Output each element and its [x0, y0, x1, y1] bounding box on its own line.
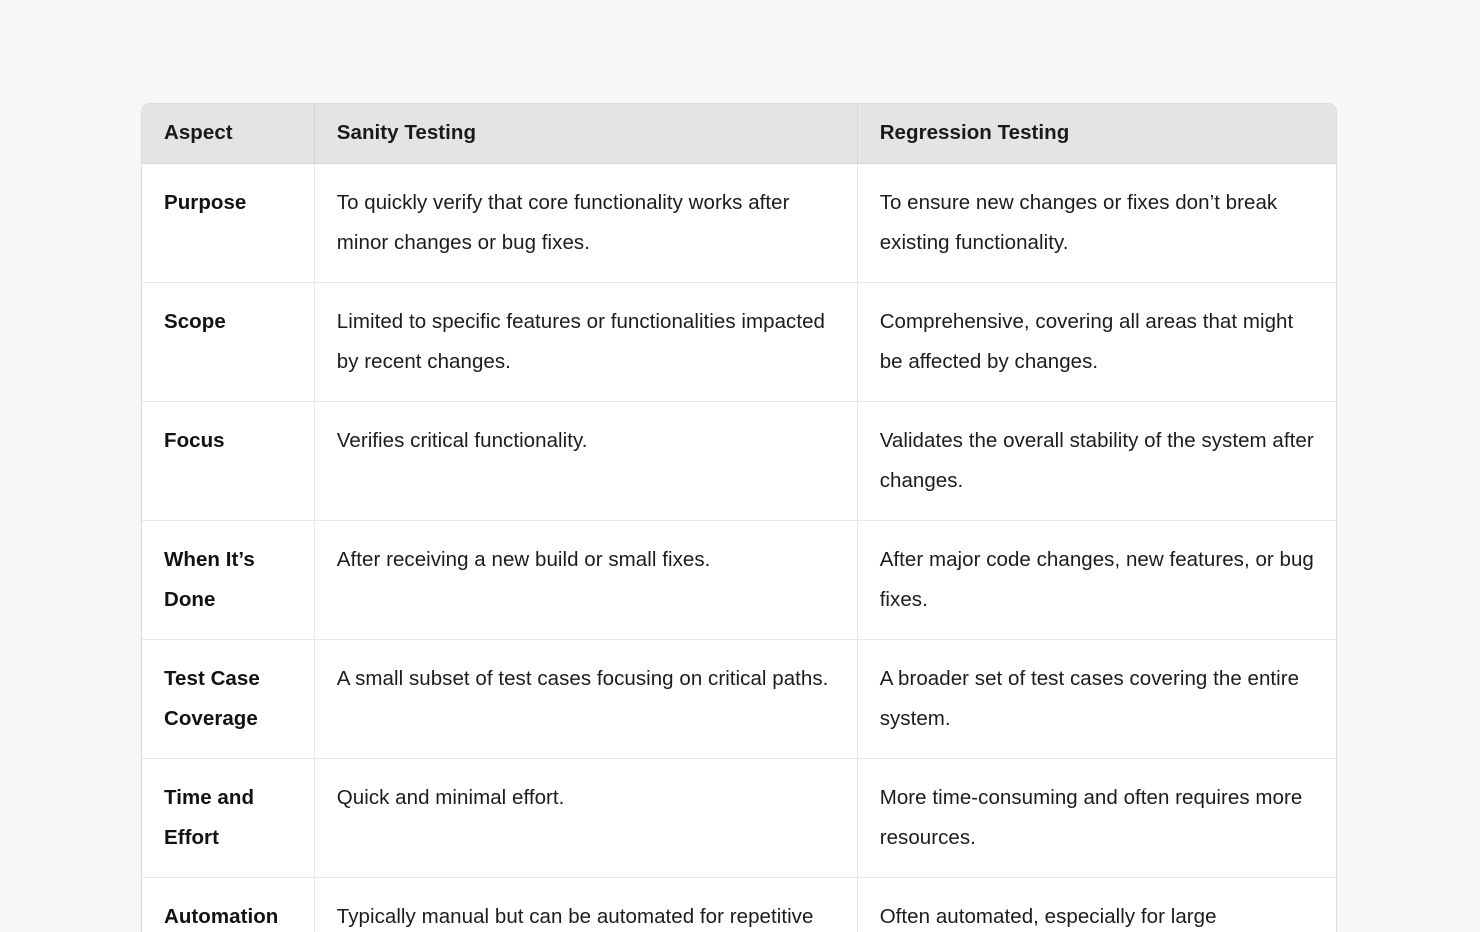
- column-header-regression-testing: Regression Testing: [857, 104, 1336, 164]
- table-body: Purpose To quickly verify that core func…: [142, 164, 1336, 932]
- column-header-aspect: Aspect: [142, 104, 314, 164]
- cell-regression: More time-consuming and often requires m…: [857, 758, 1336, 877]
- cell-sanity: After receiving a new build or small fix…: [314, 520, 857, 639]
- comparison-table: Aspect Sanity Testing Regression Testing…: [142, 104, 1336, 932]
- cell-aspect: When It’s Done: [142, 520, 314, 639]
- cell-aspect: Scope: [142, 282, 314, 401]
- table-row: Automation Typically manual but can be a…: [142, 877, 1336, 932]
- table-header: Aspect Sanity Testing Regression Testing: [142, 104, 1336, 164]
- table-row: Test Case Coverage A small subset of tes…: [142, 639, 1336, 758]
- page-root: Aspect Sanity Testing Regression Testing…: [0, 0, 1480, 932]
- cell-aspect: Test Case Coverage: [142, 639, 314, 758]
- cell-regression: A broader set of test cases covering the…: [857, 639, 1336, 758]
- cell-aspect: Focus: [142, 401, 314, 520]
- column-header-sanity-testing: Sanity Testing: [314, 104, 857, 164]
- cell-aspect: Automation: [142, 877, 314, 932]
- cell-sanity: Limited to specific features or function…: [314, 282, 857, 401]
- cell-sanity: A small subset of test cases focusing on…: [314, 639, 857, 758]
- table-row: Time and Effort Quick and minimal effort…: [142, 758, 1336, 877]
- comparison-table-container: Aspect Sanity Testing Regression Testing…: [141, 103, 1337, 932]
- cell-aspect: Purpose: [142, 164, 314, 283]
- cell-regression: Validates the overall stability of the s…: [857, 401, 1336, 520]
- cell-sanity: Typically manual but can be automated fo…: [314, 877, 857, 932]
- cell-sanity: To quickly verify that core functionalit…: [314, 164, 857, 283]
- table-row: Purpose To quickly verify that core func…: [142, 164, 1336, 283]
- cell-regression: After major code changes, new features, …: [857, 520, 1336, 639]
- table-row: Focus Verifies critical functionality. V…: [142, 401, 1336, 520]
- cell-regression: Comprehensive, covering all areas that m…: [857, 282, 1336, 401]
- table-header-row: Aspect Sanity Testing Regression Testing: [142, 104, 1336, 164]
- cell-aspect: Time and Effort: [142, 758, 314, 877]
- cell-sanity: Verifies critical functionality.: [314, 401, 857, 520]
- cell-sanity: Quick and minimal effort.: [314, 758, 857, 877]
- table-row: When It’s Done After receiving a new bui…: [142, 520, 1336, 639]
- cell-regression: To ensure new changes or fixes don’t bre…: [857, 164, 1336, 283]
- table-row: Scope Limited to specific features or fu…: [142, 282, 1336, 401]
- cell-regression: Often automated, especially for large ap…: [857, 877, 1336, 932]
